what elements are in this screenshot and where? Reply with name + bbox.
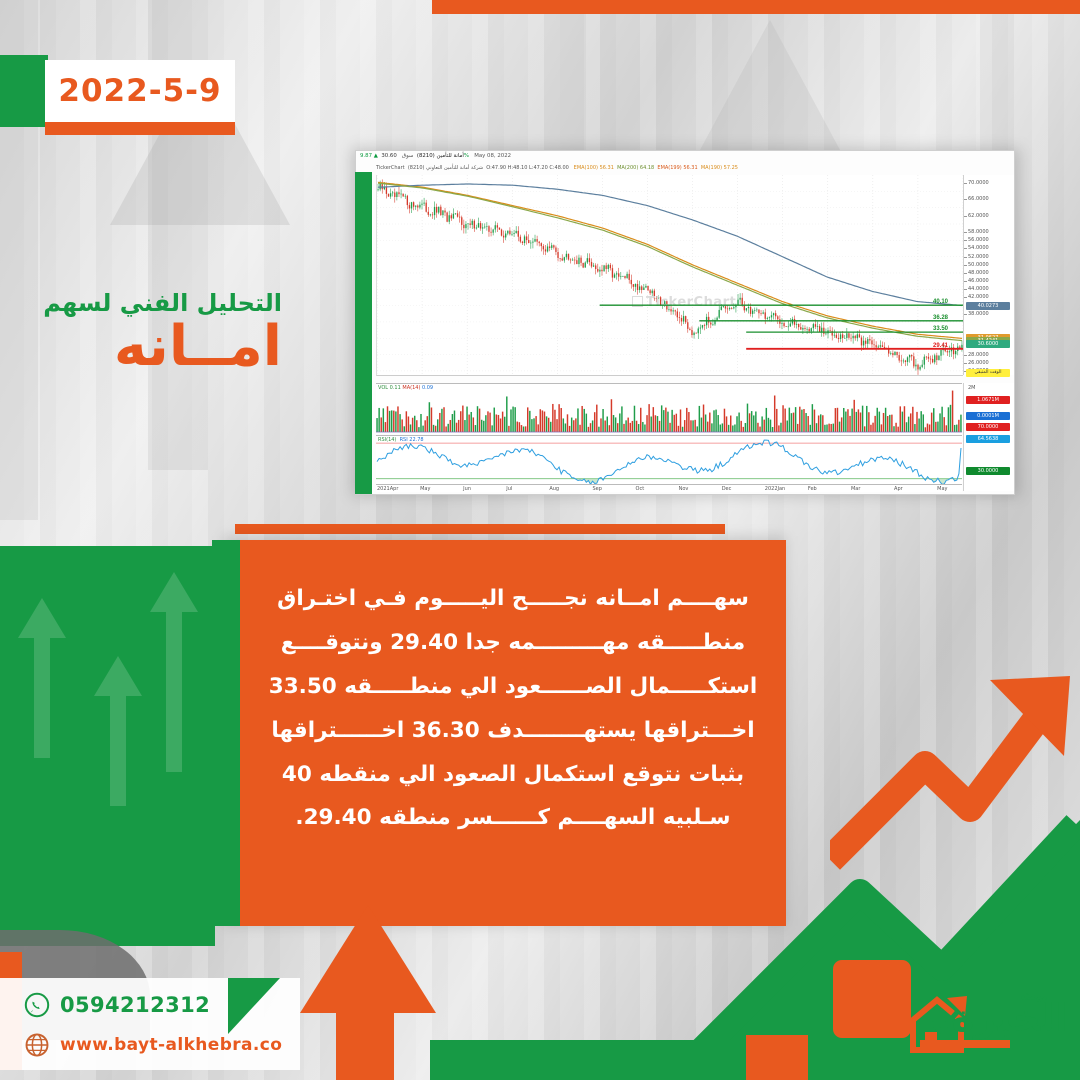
time-axis-label: May [937, 486, 947, 492]
price-axis-tickmark [964, 257, 967, 258]
logo-word-main: الخبرة [952, 996, 1068, 1040]
subpanel-axis-label: 30.0000 [966, 467, 1010, 475]
price-axis-right: 70.000066.000062.000058.000056.000054.00… [963, 175, 1015, 375]
logo-underline [920, 1040, 1010, 1048]
chart-last-price: 30.60 [381, 153, 396, 159]
brand-logo[interactable]: بيت الخبرة [905, 978, 1070, 1064]
bottom-orange-square [746, 1035, 808, 1080]
green-arrow-stem [166, 612, 182, 772]
subpanel-axis-label: 70.0000 [966, 423, 1010, 431]
chart-ohlc-label: O:47.90 H:48.10 L:47.20 C:48.00 [486, 165, 569, 171]
price-axis-tickmark [964, 273, 967, 274]
price-axis-tick: 48.0000 [968, 270, 989, 276]
legend-ma200-value: 64.18 [640, 165, 654, 171]
page-title-text: امــانه [0, 318, 282, 377]
time-axis-label: Nov [679, 486, 689, 492]
background-triangle [700, 20, 840, 150]
price-axis-tick: 52.0000 [968, 254, 989, 260]
green-arrow-icon [94, 656, 142, 696]
price-marker-pill: 40.0273 [966, 302, 1010, 310]
volume-chart-svg [376, 384, 962, 434]
analysis-block-green-accent [212, 540, 242, 926]
analysis-line: سهــــم امــانه نجـــــح اليـــــوم فـي … [264, 586, 762, 613]
price-marker-pill: الوقت المتبقي [966, 369, 1010, 377]
legend-ema100-value: 56.31 [600, 165, 614, 171]
bottom-orange-triangle [300, 905, 436, 1013]
price-marker-pill: 30.6000 [966, 340, 1010, 348]
price-axis-tick: 42.0000 [968, 294, 989, 300]
price-axis-tick: 38.0000 [968, 311, 989, 317]
price-axis-tick: 66.0000 [968, 196, 989, 202]
footer-phone-row[interactable]: 0594212312 [24, 992, 210, 1018]
time-axis-label: Apr [894, 486, 903, 492]
analysis-line: منطـــــقه مهـــــــــمه جدا 29.40 ونتوق… [264, 630, 762, 657]
bottom-left-green-panel [0, 546, 215, 946]
globe-icon [24, 1032, 50, 1058]
date-badge-underline [45, 122, 235, 135]
legend-ma200-label: MA(200) [617, 165, 638, 171]
chart-up-arrow-icon: ▲ [374, 153, 378, 159]
price-axis-tick: 54.0000 [968, 245, 989, 251]
chart-card: أمانة للتأمين (8210) سوق 30.60 ▲ 9.87% M… [355, 150, 1015, 495]
subpanel-axis-label: 64.5638 [966, 435, 1010, 443]
volume-panel[interactable]: VOL 0.11 MA(14) 0.09 [376, 383, 962, 434]
price-axis-tick: 44.0000 [968, 286, 989, 292]
price-axis-tick: 46.0000 [968, 278, 989, 284]
logo-orange-square [833, 960, 911, 1038]
price-axis-tickmark [964, 199, 967, 200]
bottom-orange-rect [336, 1012, 394, 1080]
green-arrow-icon [150, 572, 198, 612]
chart-header: أمانة للتأمين (8210) سوق 30.60 ▲ 9.87% M… [360, 153, 1010, 164]
time-axis-label: 2022Jan [765, 486, 785, 492]
top-orange-bar [432, 0, 1080, 14]
price-axis-tick: 70.0000 [968, 180, 989, 186]
page-title: التحليل الفني لسهم امــانه [0, 290, 300, 377]
price-axis-tickmark [964, 281, 967, 282]
green-arrow-stem [110, 696, 126, 806]
poster-root: 2022-5-9 التحليل الفني لسهم امــانه أمان… [0, 0, 1080, 1080]
chart-market-label: سوق [402, 153, 413, 159]
legend-ema199-value: 56.31 [683, 165, 697, 171]
price-axis-tickmark [964, 183, 967, 184]
price-axis-tickmark [964, 289, 967, 290]
price-axis-tickmark [964, 363, 967, 364]
time-axis-label: 2021Apr [377, 486, 398, 492]
price-axis-tickmark [964, 355, 967, 356]
time-axis-label: Jul [506, 486, 512, 492]
price-plot-area[interactable]: TickerChart 40.1036.2833.5029.41 [376, 175, 963, 376]
time-axis-label: Sep [592, 486, 601, 492]
mid-orange-rule [235, 524, 725, 534]
legend-ema199-label: EMA(199) [657, 165, 681, 171]
price-axis-tick: 28.0000 [968, 352, 989, 358]
time-axis-label: Dec [722, 486, 732, 492]
chart-subheader: TickerChart شركة أمانة للتأمين التعاوني … [376, 165, 1010, 175]
price-axis-tickmark [964, 216, 967, 217]
price-axis-tickmark [964, 240, 967, 241]
chart-date-label: May 08, 2022 [474, 153, 511, 159]
price-axis-tick: 62.0000 [968, 213, 989, 219]
time-axis-label: May [420, 486, 430, 492]
whatsapp-icon [24, 992, 50, 1018]
time-axis-label: Jun [463, 486, 471, 492]
analysis-line: استكـــــمال الصــــــعود الي منطـــــقه… [264, 674, 762, 701]
time-axis-line [376, 484, 962, 485]
bottom-green-band [430, 1040, 760, 1080]
time-axis-label: Aug [549, 486, 559, 492]
footer-website-row[interactable]: www.bayt-alkhebra.co [24, 1032, 282, 1058]
orange-arrow-icon [830, 660, 1080, 880]
green-arrow-stem [34, 638, 50, 758]
legend-ma190-value: 57.25 [724, 165, 738, 171]
footer-green-wedge [228, 978, 280, 1034]
subpanel-axis-label: 1.0671M [966, 396, 1010, 404]
svg-text:33.50: 33.50 [933, 326, 949, 332]
footer-website-text: www.bayt-alkhebra.co [60, 1035, 282, 1055]
chart-symbol-label: أمانة للتأمين (8210) [417, 153, 464, 159]
page-subtitle-text: التحليل الفني لسهم [0, 290, 282, 316]
price-axis-tick: 50.0000 [968, 262, 989, 268]
date-badge: 2022-5-9 [45, 60, 235, 122]
price-axis-tickmark [964, 265, 967, 266]
background-band [560, 0, 586, 150]
price-axis-tickmark [964, 314, 967, 315]
footer-phone-text: 0594212312 [60, 993, 210, 1017]
legend-ema100-label: EMA(100) [574, 165, 598, 171]
subpanel-axis-right: 2M1.0671M0.0001M70.000064.563830.0000 [963, 383, 1015, 491]
chart-green-accent-bar [355, 172, 372, 494]
svg-text:40.10: 40.10 [933, 299, 949, 305]
price-axis-tickmark [964, 232, 967, 233]
time-axis-label: Mar [851, 486, 860, 492]
time-axis-label: Oct [636, 486, 645, 492]
price-axis-tick: 26.0000 [968, 360, 989, 366]
svg-text:36.28: 36.28 [933, 315, 949, 321]
chart-instrument-label: شركة أمانة للتأمين التعاوني (8210) [408, 165, 483, 171]
legend-ma190-label: MA(190) [701, 165, 722, 171]
price-axis-tickmark [964, 248, 967, 249]
subpanel-axis-label: 0.0001M [966, 412, 1010, 420]
green-arrow-icon [18, 598, 66, 638]
price-axis-tick: 56.0000 [968, 237, 989, 243]
date-badge-green-block [0, 55, 48, 127]
price-axis-tick: 58.0000 [968, 229, 989, 235]
support-resistance-overlay: 40.1036.2833.5029.41 [377, 175, 963, 375]
time-axis-label: Feb [808, 486, 817, 492]
chart-source-label: TickerChart [376, 165, 405, 171]
subpanel-axis-label: 2M [968, 385, 976, 391]
date-badge-text: 2022-5-9 [58, 73, 221, 109]
svg-text:29.41: 29.41 [933, 343, 949, 349]
time-axis: 2021AprMayJunJulAugSepOctNovDec2022JanFe… [376, 484, 962, 495]
price-axis-tickmark [964, 297, 967, 298]
